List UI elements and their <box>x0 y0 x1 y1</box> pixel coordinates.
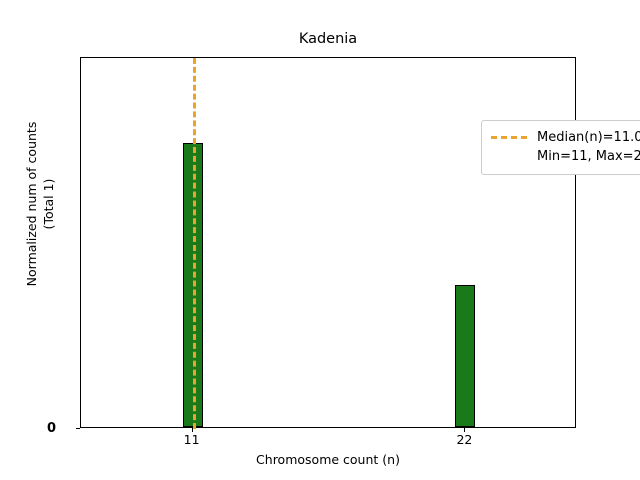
chart-legend: Median(n)=11.0 Min=11, Max=22 <box>481 120 640 175</box>
median-line <box>193 58 196 429</box>
y-tick-mark-0 <box>76 428 80 429</box>
legend-label-median: Median(n)=11.0 <box>537 130 640 145</box>
y-axis-label: Normalized num of counts (Total 1) <box>23 34 57 374</box>
x-tick-mark-22 <box>464 428 465 432</box>
chart-figure: Kadenia Median(n)=11.0 Min=11, Max=22 0 … <box>0 0 640 480</box>
x-tick-mark-11 <box>192 428 193 432</box>
legend-label-minmax: Min=11, Max=22 <box>537 149 640 164</box>
dashed-line-icon <box>491 136 527 139</box>
legend-item-median: Median(n)=11.0 <box>491 128 640 147</box>
chart-title: Kadenia <box>80 30 576 48</box>
x-axis-label: Chromosome count (n) <box>80 452 576 467</box>
plot-area: Median(n)=11.0 Min=11, Max=22 <box>80 57 576 428</box>
median-line-layer <box>81 58 575 427</box>
y-tick-label-0: 0 <box>47 421 56 436</box>
x-tick-label-11: 11 <box>184 432 200 447</box>
x-tick-label-22: 22 <box>456 432 472 447</box>
legend-item-minmax: Min=11, Max=22 <box>491 147 640 166</box>
